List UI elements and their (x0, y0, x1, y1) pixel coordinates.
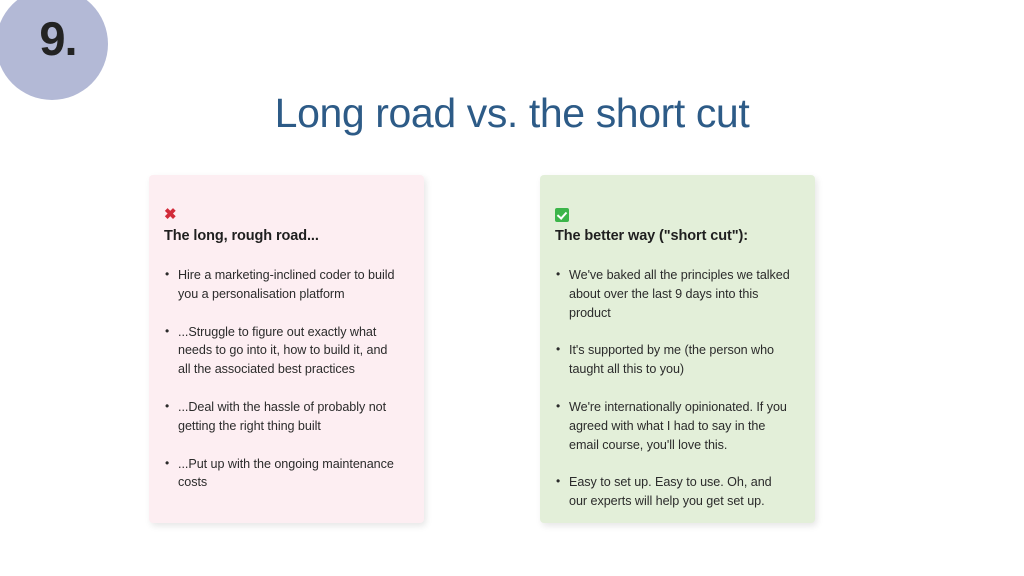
page-title: Long road vs. the short cut (0, 89, 1024, 138)
list-item: It's supported by me (the person who tau… (555, 341, 791, 379)
slide-number-badge: 9. (0, 0, 108, 100)
card-better-way-bullets: We've baked all the principles we talked… (555, 266, 791, 511)
green-check-icon (555, 208, 791, 224)
card-better-way-heading: The better way ("short cut"): (555, 228, 791, 244)
card-long-road-heading: The long, rough road... (164, 228, 400, 244)
red-cross-icon: ✖ (164, 208, 400, 224)
list-item: We've baked all the principles we talked… (555, 266, 791, 322)
list-item: ...Put up with the ongoing maintenance c… (164, 455, 400, 493)
card-better-way: The better way ("short cut"): We've bake… (540, 175, 815, 523)
list-item: Easy to set up. Easy to use. Oh, and our… (555, 473, 791, 511)
card-long-road: ✖ The long, rough road... Hire a marketi… (149, 175, 424, 523)
comparison-cards: ✖ The long, rough road... Hire a marketi… (0, 175, 1024, 525)
list-item: We're internationally opinionated. If yo… (555, 398, 791, 454)
card-long-road-bullets: Hire a marketing-inclined coder to build… (164, 266, 400, 492)
list-item: ...Deal with the hassle of probably not … (164, 398, 400, 436)
slide-number-label: 9. (39, 11, 76, 66)
list-item: Hire a marketing-inclined coder to build… (164, 266, 400, 304)
list-item: ...Struggle to figure out exactly what n… (164, 323, 400, 379)
